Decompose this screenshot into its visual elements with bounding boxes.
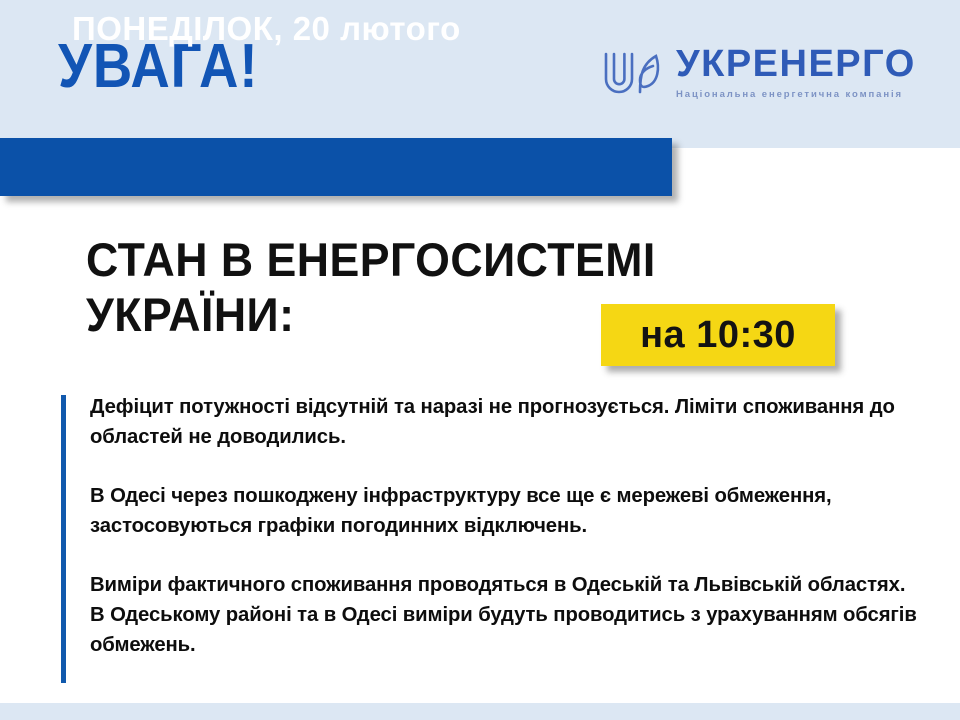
status-paragraph: В Одесі через пошкоджену інфраструктуру … (90, 481, 922, 541)
ukrenergo-leaf-mark-icon (600, 46, 668, 102)
status-paragraph: Виміри фактичного споживання проводяться… (90, 570, 922, 660)
status-text-block: Дефіцит потужності відсутній та наразі н… (90, 392, 930, 660)
logo-text-wrap: УКРЕНЕРГО Національна енергетична компан… (676, 44, 920, 102)
time-badge-label: на 10:30 (640, 315, 796, 355)
logo-tagline: Національна енергетична компанія (676, 89, 903, 100)
ukrenergo-logo: УКРЕНЕРГО Національна енергетична компан… (600, 44, 920, 106)
time-badge: на 10:30 (601, 304, 835, 366)
status-paragraph: Дефіцит потужності відсутній та наразі н… (90, 392, 922, 452)
left-accent-bar (61, 395, 66, 683)
footer-band (0, 703, 960, 720)
date-banner-label: ПОНЕДІЛОК, 20 лютого (72, 11, 461, 47)
logo-wordmark: УКРЕНЕРГО (676, 43, 916, 85)
date-banner (0, 138, 672, 196)
